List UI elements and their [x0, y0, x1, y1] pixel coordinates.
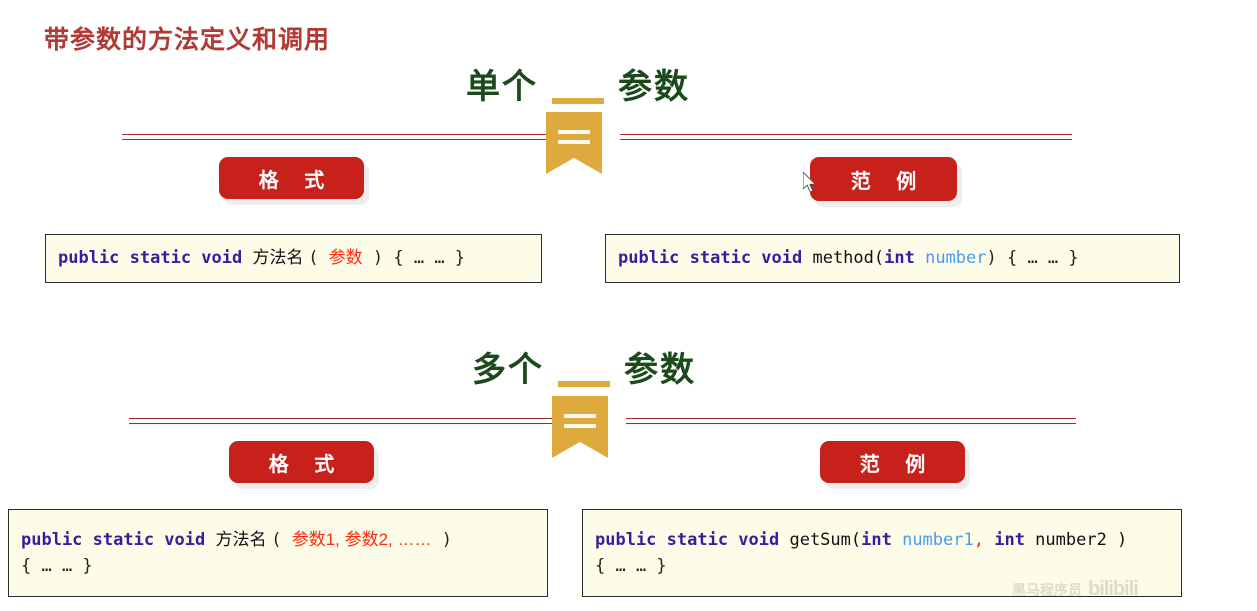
divider-rule-right-single	[620, 134, 1072, 141]
code-token: int	[994, 530, 1035, 550]
code-token: int	[884, 248, 925, 268]
code-token: 参数	[329, 248, 363, 267]
divider-rule-left-multi	[129, 418, 553, 425]
code-line: public static void method(int number) { …	[618, 245, 1167, 271]
ribbon-bar-bottom	[558, 140, 590, 144]
format-button-multi[interactable]: 格 式	[229, 441, 374, 483]
code-box-example-single: public static void method(int number) { …	[605, 234, 1180, 283]
code-token: { … … }	[21, 556, 93, 576]
example-button-multi[interactable]: 范 例	[820, 441, 965, 483]
code-token: method(	[812, 248, 884, 268]
ribbon-bar-bottom	[564, 424, 596, 428]
code-token: 方法名	[252, 248, 308, 267]
code-token: public static void	[618, 248, 812, 268]
code-token: number	[925, 248, 986, 268]
ribbon-bar-top	[558, 130, 590, 134]
code-line: public static void 方法名 ( 参数1, 参数2, …… )	[21, 527, 535, 553]
ribbon-bookmark-single	[546, 112, 602, 174]
code-token: public static void	[21, 530, 215, 550]
code-token: public static void	[58, 248, 252, 268]
code-line: public static void getSum(int number1, i…	[595, 527, 1169, 553]
gold-underline-accent	[550, 349, 618, 387]
code-line: public static void 方法名 ( 参数 ) { … … }	[58, 245, 529, 271]
code-token: ) { … … }	[987, 248, 1079, 268]
gold-underline-accent	[544, 66, 612, 104]
divider-rule-right-multi	[626, 418, 1076, 425]
code-token: 参数1, 参数2, ……	[292, 530, 432, 549]
ribbon-bar-top	[564, 414, 596, 418]
code-box-format-multi: public static void 方法名 ( 参数1, 参数2, …… ) …	[8, 509, 548, 597]
code-token: public static void	[595, 530, 789, 550]
section-heading-single: 单个 参数	[466, 66, 690, 104]
code-token: ) { … … }	[363, 248, 465, 268]
section-heading-multi-right: 参数	[624, 353, 696, 387]
code-box-format-single: public static void 方法名 ( 参数 ) { … … }	[45, 234, 542, 283]
code-line: { … … }	[21, 553, 535, 579]
code-token: number2 )	[1035, 530, 1127, 550]
ribbon-bookmark-multi	[552, 396, 608, 458]
code-token: (	[308, 248, 328, 268]
section-heading-single-left: 单个	[466, 70, 538, 104]
code-token: int	[861, 530, 902, 550]
section-heading-multi-left: 多个	[472, 353, 544, 387]
code-token: (	[271, 530, 291, 550]
code-token: )	[432, 530, 452, 550]
code-line: { … … }	[595, 553, 1169, 579]
section-heading-single-right: 参数	[618, 70, 690, 104]
code-token: ,	[974, 530, 994, 550]
page-title: 带参数的方法定义和调用	[44, 20, 330, 56]
code-token: number1	[902, 530, 974, 550]
section-heading-multi: 多个 参数	[472, 349, 696, 387]
example-button-single[interactable]: 范 例	[810, 157, 957, 201]
code-token: getSum(	[789, 530, 861, 550]
code-token: { … … }	[595, 556, 667, 576]
divider-rule-left-single	[122, 134, 546, 141]
code-token: 方法名	[215, 530, 271, 549]
code-box-example-multi: public static void getSum(int number1, i…	[582, 509, 1182, 597]
format-button-single[interactable]: 格 式	[219, 157, 364, 199]
